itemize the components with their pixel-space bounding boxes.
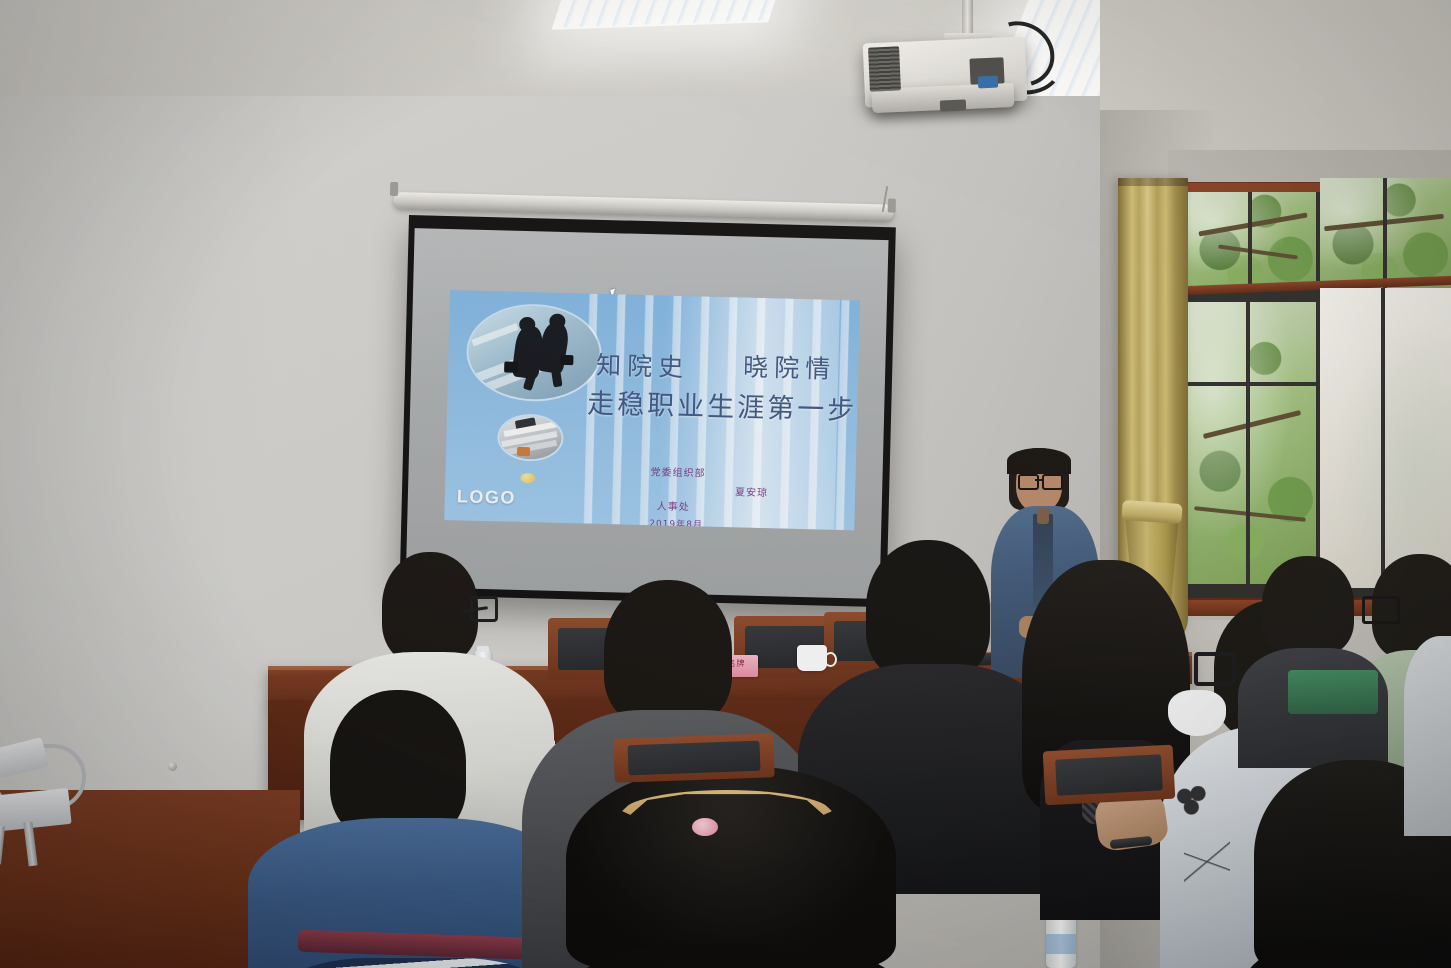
tshirt-print bbox=[1172, 786, 1214, 820]
eyeglasses bbox=[1194, 652, 1236, 686]
window-pane bbox=[1188, 302, 1316, 584]
eyeglasses bbox=[1362, 596, 1400, 624]
slide-photo-businessmen bbox=[467, 305, 600, 401]
eyeglasses bbox=[1018, 474, 1060, 486]
slide-presenter-name: 夏安琼 bbox=[735, 483, 768, 499]
teacup-handle bbox=[824, 652, 837, 667]
eyeglasses bbox=[470, 596, 498, 622]
window-pane bbox=[1188, 192, 1316, 288]
powerpoint-slide: 知院史 晓院情 走稳职业生涯第一步 党委组织部 夏安琼 人事处 2019年8月 … bbox=[444, 290, 860, 530]
chair bbox=[613, 733, 774, 783]
slide-department: 党委组织部 bbox=[650, 463, 705, 479]
projector-vent bbox=[868, 46, 901, 91]
slide-title-part1: 知院史 bbox=[596, 346, 690, 384]
curtain-tieback bbox=[1121, 500, 1182, 524]
projector-lens bbox=[940, 99, 966, 111]
wall-fitting bbox=[168, 762, 177, 771]
slide-office: 人事处 bbox=[657, 497, 690, 513]
water-bottle bbox=[1046, 912, 1076, 968]
tshirt-print bbox=[1184, 838, 1230, 886]
chair bbox=[1043, 745, 1176, 806]
slide-title-line2: 走稳职业生涯第一步 bbox=[587, 382, 858, 428]
projection-screen: 知院史 晓院情 走稳职业生涯第一步 党委组织部 夏安琼 人事处 2019年8月 … bbox=[399, 215, 895, 607]
slide-title-part2: 晓院情 bbox=[743, 348, 837, 386]
ceiling-light-panel bbox=[551, 0, 782, 30]
face-mask bbox=[1168, 690, 1226, 736]
slide-photo-documents bbox=[499, 415, 562, 460]
chair bbox=[1288, 670, 1378, 714]
slide-logo-text: LOGO bbox=[457, 486, 517, 508]
hair-clip bbox=[692, 818, 718, 836]
meeting-room-photo: 知院史 晓院情 走稳职业生涯第一步 党委组织部 夏安琼 人事处 2019年8月 … bbox=[0, 0, 1451, 968]
slide-accent-dot bbox=[520, 473, 535, 483]
teacup bbox=[797, 645, 827, 671]
window bbox=[1180, 182, 1451, 612]
window-pane-frosted bbox=[1320, 288, 1451, 588]
